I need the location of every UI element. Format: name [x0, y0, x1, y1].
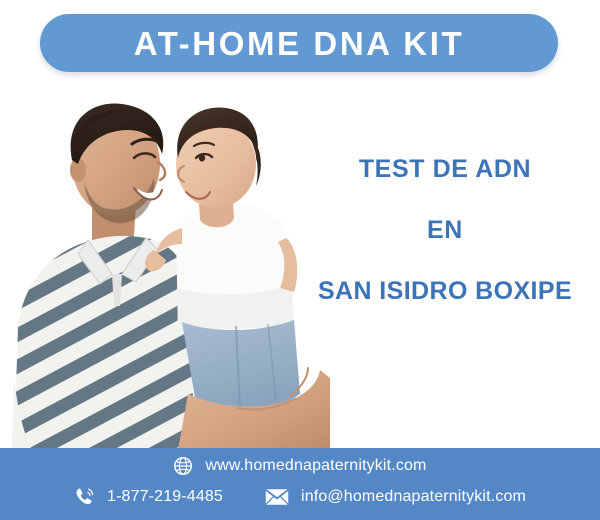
headline-line-service: TEST DE ADN — [300, 155, 590, 184]
phone-icon — [74, 486, 95, 507]
website-label: www.homednapaternitykit.com — [205, 458, 426, 474]
website-item[interactable]: www.homednapaternitykit.com — [173, 456, 426, 476]
email-label: info@homednapaternitykit.com — [301, 489, 526, 505]
phone-item[interactable]: 1-877-219-4485 — [74, 486, 223, 507]
headline-line-preposition: EN — [300, 216, 590, 245]
globe-icon — [173, 456, 193, 476]
father-and-child-illustration — [0, 78, 330, 450]
page-title: AT-HOME DNA KIT — [134, 27, 464, 60]
family-photo — [0, 78, 330, 450]
headline-block: TEST DE ADN EN SAN ISIDRO BOXIPE — [300, 155, 590, 305]
poster-canvas: AT-HOME DNA KIT — [0, 0, 600, 520]
footer-website-row: www.homednapaternitykit.com — [0, 456, 600, 476]
footer-contact-row: 1-877-219-4485 info@homednapaternitykit.… — [0, 486, 600, 507]
headline-line-location: SAN ISIDRO BOXIPE — [300, 277, 590, 306]
footer-bar: www.homednapaternitykit.com 1-877-219-44… — [0, 448, 600, 520]
envelope-icon — [265, 488, 289, 506]
header-banner: AT-HOME DNA KIT — [40, 14, 558, 72]
email-item[interactable]: info@homednapaternitykit.com — [265, 488, 526, 506]
phone-label: 1-877-219-4485 — [107, 489, 223, 505]
